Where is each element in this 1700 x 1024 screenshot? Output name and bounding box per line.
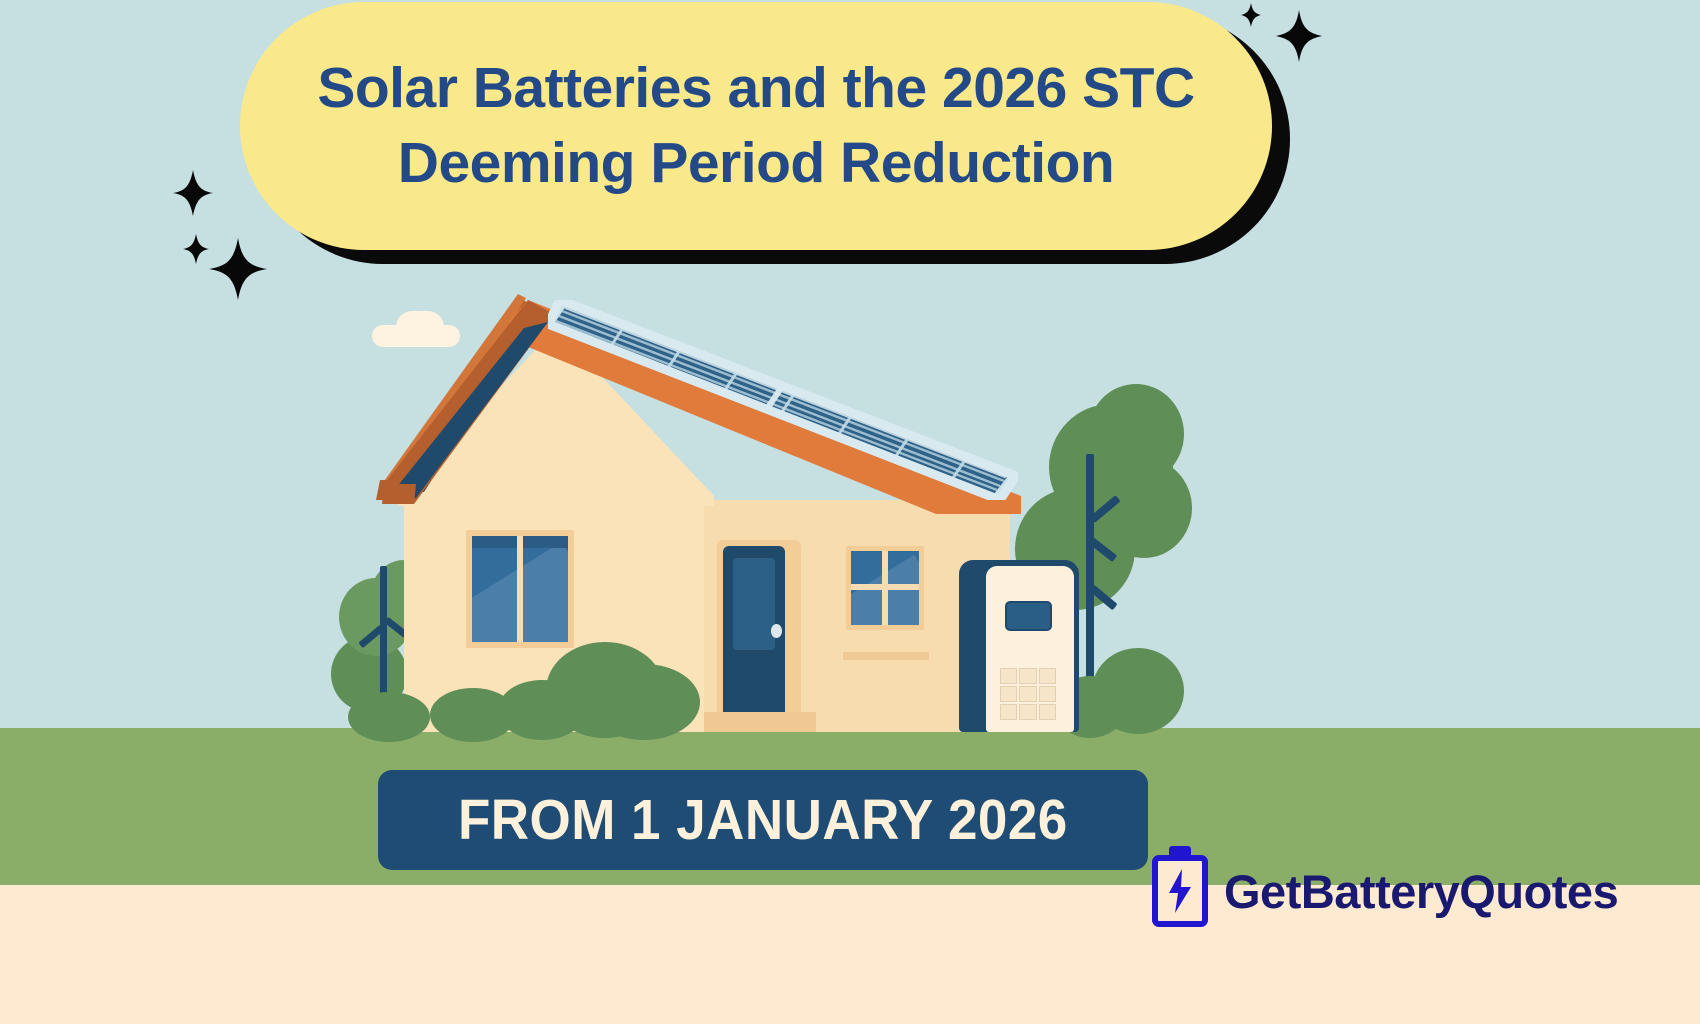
sparkle-icon-3 xyxy=(209,238,267,300)
door-step xyxy=(704,712,816,732)
vent-cell xyxy=(1039,668,1056,684)
vent-cell xyxy=(1019,704,1036,720)
window-left-mullion xyxy=(517,536,523,642)
vent-cell xyxy=(1039,686,1056,702)
sparkle-icon-2 xyxy=(183,234,209,264)
sparkle-icon-4 xyxy=(1276,10,1322,62)
vent-cell xyxy=(1000,686,1017,702)
page-title-line-2: Deeming Period Reduction xyxy=(398,126,1114,201)
date-banner: FROM 1 JANUARY 2026 xyxy=(378,770,1148,870)
home-battery-display xyxy=(1005,601,1052,631)
vent-cell xyxy=(1000,704,1017,720)
date-banner-text: FROM 1 JANUARY 2026 xyxy=(458,787,1068,853)
brand-logo[interactable]: GetBatteryQuotes xyxy=(1152,855,1618,927)
title-pill: Solar Batteries and the 2026 STC Deeming… xyxy=(240,2,1272,250)
window-right-sill xyxy=(843,652,929,660)
battery-bolt-icon xyxy=(1152,855,1208,927)
sparkle-icon-5 xyxy=(1241,3,1261,27)
brand-name: GetBatteryQuotes xyxy=(1224,864,1618,919)
vent-cell xyxy=(1039,704,1056,720)
rooftop-solar-array xyxy=(548,300,1018,500)
sparkle-icon-1 xyxy=(173,170,213,216)
vent-cell xyxy=(1019,668,1036,684)
infographic-canvas: Solar Batteries and the 2026 STC Deeming… xyxy=(0,0,1700,1024)
door-knob-icon xyxy=(771,624,782,638)
vent-cell xyxy=(1019,686,1036,702)
door-panel xyxy=(733,558,775,650)
page-title-line-1: Solar Batteries and the 2026 STC xyxy=(317,51,1194,126)
home-battery-vent-grid xyxy=(1000,668,1056,720)
lightning-bolt-icon xyxy=(1167,869,1193,913)
window-right-mullion-h xyxy=(851,584,919,590)
vent-cell xyxy=(1000,668,1017,684)
